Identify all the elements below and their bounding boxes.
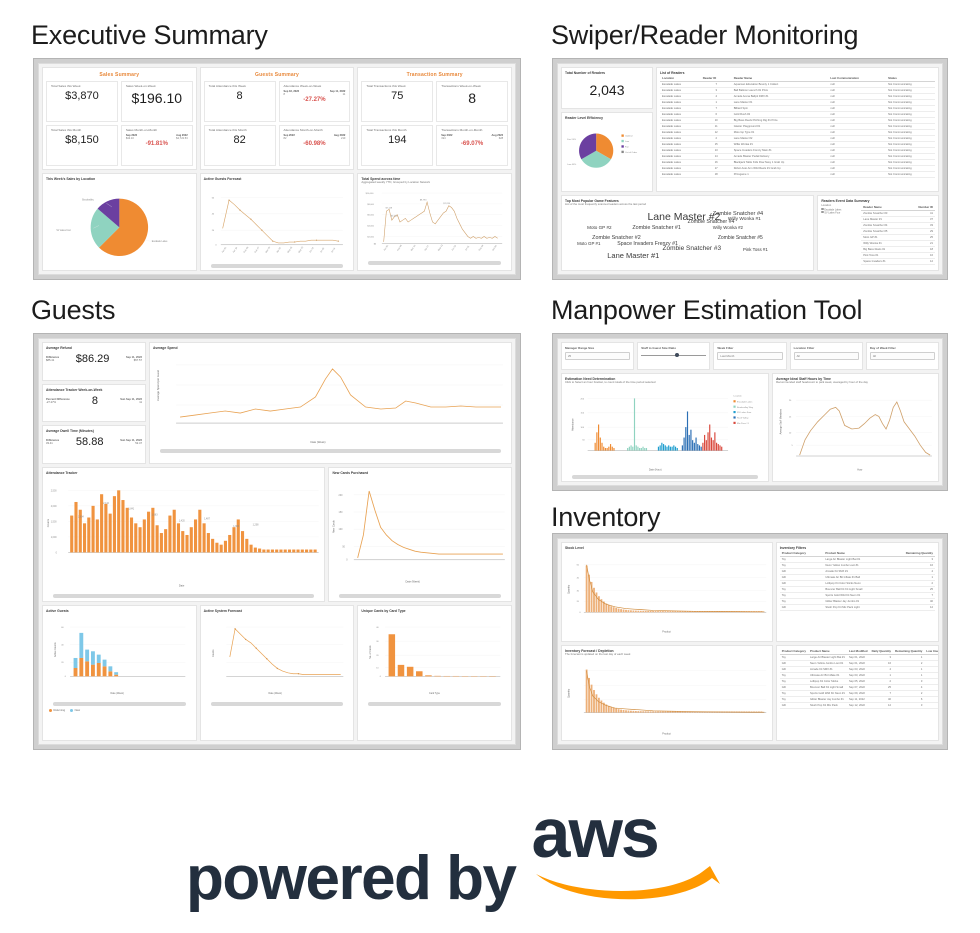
chart-top-game-features-wordcloud[interactable]: Top Most Popular Game Features List of t… <box>561 195 814 271</box>
bar[interactable] <box>645 711 647 712</box>
kpi-total-attendance-week[interactable]: Total Attendance this Week 8 <box>204 81 276 122</box>
bar[interactable] <box>416 671 423 676</box>
bar-returning[interactable] <box>91 664 95 676</box>
bar-new[interactable] <box>74 658 78 668</box>
bar[interactable] <box>168 515 171 552</box>
bar[interactable] <box>673 445 674 450</box>
bar-returning[interactable] <box>114 674 118 676</box>
bar[interactable] <box>625 609 627 611</box>
kpi-total-sales-week[interactable]: Total Sales this Week $3,870 <box>46 81 118 122</box>
bar[interactable] <box>713 440 714 450</box>
manpower-filter-bar[interactable]: Manager Range Size 25 Staff to Guest Siz… <box>561 342 939 370</box>
svg-text:0: 0 <box>380 676 382 678</box>
bar[interactable] <box>668 445 669 450</box>
bar[interactable] <box>628 610 630 612</box>
bar[interactable] <box>615 608 617 612</box>
ratio-slider[interactable] <box>641 355 706 356</box>
bar[interactable] <box>605 448 606 451</box>
bar[interactable] <box>634 398 635 450</box>
svg-text:Jul 24: Jul 24 <box>331 247 336 254</box>
bar[interactable] <box>92 505 95 552</box>
bar[interactable] <box>687 411 688 450</box>
bar[interactable] <box>198 509 201 552</box>
chart-total-spend[interactable]: Total Spend across time Aggregated weekl… <box>357 173 512 271</box>
bar[interactable] <box>669 711 671 712</box>
bar[interactable] <box>593 587 595 611</box>
bar[interactable] <box>674 711 676 712</box>
kpi-attendance-month-on-month[interactable]: Attendance Month-on-Month Sep 202282 Aug… <box>279 125 351 166</box>
kpi-attendance-tracker-wow[interactable]: Attendance Tracker Week-on-Week Percent … <box>42 384 146 423</box>
bar[interactable] <box>143 519 146 552</box>
bar[interactable] <box>632 711 634 713</box>
bar[interactable] <box>245 538 248 552</box>
bar[interactable] <box>620 710 622 713</box>
bar[interactable] <box>660 445 661 450</box>
bar[interactable] <box>644 448 645 451</box>
bar[interactable] <box>121 500 124 552</box>
bar[interactable] <box>232 527 235 552</box>
bar[interactable] <box>652 711 654 712</box>
bar[interactable] <box>126 507 129 552</box>
bar[interactable] <box>598 596 600 612</box>
slider-knob[interactable] <box>675 353 679 357</box>
bar[interactable] <box>279 549 282 552</box>
kpi-average-dwell-time[interactable]: Average Dwell Time (Minutes) Difference … <box>42 425 146 464</box>
chart-unique-cards-by-type[interactable]: Unique Cards by Card Type 40 30 20 10 0 … <box>357 605 512 741</box>
bar[interactable] <box>677 448 678 451</box>
bar[interactable] <box>207 533 210 552</box>
svg-text:Feb 27: Feb 27 <box>254 246 260 253</box>
chart-average-spend[interactable]: Average Spend Average Spend per Guest Da… <box>149 342 512 464</box>
bar[interactable] <box>296 549 299 552</box>
bar[interactable] <box>625 710 627 712</box>
chart-new-cards-purchased[interactable]: New Cards Purchased 200 150 100 50 0 New… <box>328 467 512 602</box>
bar[interactable] <box>657 611 659 612</box>
filter-location[interactable]: Location Filter All <box>790 342 863 370</box>
bar[interactable] <box>636 445 637 450</box>
bar[interactable] <box>675 447 676 451</box>
bar[interactable] <box>309 549 312 552</box>
bar-returning[interactable] <box>74 668 78 676</box>
bar[interactable] <box>629 447 630 451</box>
svg-text:Jun 12: Jun 12 <box>309 246 315 253</box>
bar[interactable] <box>650 611 652 612</box>
dashboard-manpower[interactable]: Manager Range Size 25 Staff to Guest Siz… <box>552 333 948 491</box>
bar[interactable] <box>640 711 642 712</box>
bar[interactable] <box>661 443 662 451</box>
bar[interactable] <box>185 535 188 552</box>
bar[interactable] <box>607 448 608 451</box>
bar[interactable] <box>600 700 602 712</box>
bar[interactable] <box>74 502 77 552</box>
bar[interactable] <box>600 438 601 451</box>
table-row[interactable]: GiftSlush Pop Kit Mix PackSep 12, 202212… <box>780 703 939 709</box>
bar[interactable] <box>674 611 676 612</box>
wordcloud-term[interactable]: Zombie Snatcher #1 <box>632 226 681 231</box>
table-inventory-detail[interactable]: Product Category Product Name Last Modif… <box>776 645 939 741</box>
bar[interactable] <box>608 605 610 612</box>
kpi-value: 8 <box>92 395 98 407</box>
panel-title: Inventory Filters <box>777 543 938 550</box>
bar[interactable] <box>130 517 133 552</box>
bar[interactable] <box>672 447 673 451</box>
bar[interactable] <box>685 427 686 450</box>
kpi-average-refund[interactable]: Average Refund Difference $85.41 $86.29 … <box>42 342 146 381</box>
bar[interactable] <box>603 447 604 451</box>
dashboard-swiper-reader[interactable]: Total Number of Readers 2,043 Reader Lev… <box>552 58 948 280</box>
kpi-transactions-week-on-week[interactable]: Transactions Week-on-Week 8 <box>436 81 508 122</box>
bar[interactable] <box>642 610 644 611</box>
bar[interactable] <box>662 711 664 712</box>
wordcloud-term[interactable]: Willy Wonka #1 <box>728 218 761 223</box>
bar[interactable] <box>83 523 86 552</box>
svg-text:1,500: 1,500 <box>51 521 58 523</box>
bar-returning[interactable] <box>79 658 83 676</box>
kpi-value: 8 <box>441 91 503 105</box>
bar[interactable] <box>147 511 150 552</box>
kpi-total-transactions-month[interactable]: Total Transactions this Month 194 <box>361 125 433 166</box>
svg-text:40: 40 <box>377 627 380 629</box>
bar[interactable] <box>667 711 669 712</box>
bar[interactable] <box>707 432 708 450</box>
kpi-label: Attendance Week-on-Week <box>284 85 346 89</box>
bar[interactable] <box>702 443 703 451</box>
chart-active-guests-forecast[interactable]: Active Guests Forecast 60 40 20 0 <box>200 173 355 271</box>
bar[interactable] <box>586 565 588 612</box>
bar[interactable] <box>435 675 442 676</box>
wordcloud-term[interactable]: Space Invaders Frenzy #1 <box>617 242 678 247</box>
wordcloud-term[interactable]: Willy Wonka #2 <box>713 226 743 230</box>
bar[interactable] <box>657 711 659 712</box>
dashboard-guests[interactable]: Average Refund Difference $85.41 $86.29 … <box>33 333 521 750</box>
bar-returning[interactable] <box>97 663 101 676</box>
bar[interactable] <box>596 694 598 712</box>
bar[interactable] <box>314 549 317 552</box>
kpi-total-readers[interactable]: Total Number of Readers 2,043 <box>561 67 653 109</box>
chart-scrollbar[interactable] <box>339 594 501 598</box>
bar[interactable] <box>672 611 674 612</box>
bar[interactable] <box>601 443 602 451</box>
bar[interactable] <box>660 611 662 612</box>
dashboard-inventory[interactable]: Stock Level 50 40 30 20 0 Quantity <box>552 533 948 750</box>
bar[interactable] <box>650 711 652 712</box>
filter-manager-range-size[interactable]: Manager Range Size 25 <box>561 342 634 370</box>
bar[interactable] <box>591 685 593 713</box>
bar[interactable] <box>258 548 261 552</box>
table-row[interactable]: Space Invaders #112 <box>861 258 935 264</box>
wordcloud-term[interactable]: Pink Toss #1 <box>743 248 768 252</box>
bar[interactable] <box>173 509 176 552</box>
bar-new[interactable] <box>103 659 107 666</box>
bar[interactable] <box>301 549 304 552</box>
bar[interactable] <box>228 535 231 552</box>
bar[interactable] <box>608 706 610 713</box>
panel-inventory-filters[interactable]: Inventory Filters Product Category Produ… <box>776 542 939 642</box>
bar[interactable] <box>220 544 223 552</box>
bar[interactable] <box>593 690 595 713</box>
bar[interactable] <box>664 711 666 712</box>
bar[interactable] <box>664 611 666 612</box>
bar[interactable] <box>215 542 218 552</box>
bar[interactable] <box>635 610 637 612</box>
bar[interactable] <box>655 711 657 712</box>
bar[interactable] <box>646 448 647 451</box>
chart-inventory-forecast[interactable]: Inventory Forecast / Depletion The forec… <box>561 645 773 741</box>
bar[interactable] <box>618 608 620 612</box>
bar[interactable] <box>254 547 257 552</box>
table-row[interactable]: GiftSlush Pop Kit Mix Pack Light12 <box>780 604 935 610</box>
bar[interactable] <box>670 447 671 451</box>
filter-week[interactable]: Week Filter Last Month <box>713 342 786 370</box>
chart-active-system-forecast[interactable]: Active System Forecast Counts <box>200 605 355 741</box>
svg-text:Feb 06: Feb 06 <box>398 245 404 252</box>
bar[interactable] <box>203 523 206 552</box>
chart-title: Inventory Forecast / Depletion <box>562 646 772 653</box>
bar[interactable] <box>704 435 705 451</box>
bar[interactable] <box>598 425 599 451</box>
bar[interactable] <box>642 447 643 451</box>
bar-new[interactable] <box>114 672 118 675</box>
chart-scrollbar[interactable] <box>53 702 186 706</box>
bar[interactable] <box>658 447 659 451</box>
bar[interactable] <box>630 445 631 450</box>
bar[interactable] <box>608 447 609 451</box>
bar[interactable] <box>224 540 227 552</box>
dashboard-executive-summary[interactable]: Sales Summary Total Sales this Week $3,8… <box>33 58 521 280</box>
bar[interactable] <box>662 611 664 612</box>
bar[interactable] <box>610 707 612 713</box>
bar[interactable] <box>721 447 722 451</box>
chart-active-guests[interactable]: Active Guests 60 40 20 0 Active Counts D… <box>42 605 197 741</box>
kpi-sales-month-on-month[interactable]: Sales Month-on-Month Sep 2022$42.10 Aug … <box>121 125 193 166</box>
chart-scrollbar[interactable] <box>211 264 344 268</box>
filter-option-1[interactable]: SV Lakes Four <box>821 211 858 214</box>
bar[interactable] <box>211 538 214 552</box>
bar[interactable] <box>262 549 265 552</box>
bar[interactable] <box>714 432 715 450</box>
bar[interactable] <box>699 445 700 450</box>
bar[interactable] <box>665 445 666 450</box>
chart-estimation-need[interactable]: Estimation Need Determination Click to S… <box>561 373 769 482</box>
table-row[interactable]: Escalade Lakes18Prizegame 1nullNot Commu… <box>660 171 935 177</box>
chart-stock-level[interactable]: Stock Level 50 40 30 20 0 Quantity <box>561 542 773 642</box>
chart-scrollbar[interactable] <box>53 594 314 598</box>
bar[interactable] <box>610 606 612 612</box>
bar[interactable] <box>156 525 159 552</box>
chart-scrollbar[interactable] <box>160 449 501 453</box>
bar[interactable] <box>109 513 112 552</box>
bar[interactable] <box>87 517 90 552</box>
bar[interactable] <box>596 432 597 450</box>
bar[interactable] <box>695 438 696 451</box>
bar[interactable] <box>682 445 683 450</box>
bar[interactable] <box>709 425 710 451</box>
bar[interactable] <box>645 611 647 612</box>
bar-new[interactable] <box>79 632 83 657</box>
bar[interactable] <box>595 443 596 451</box>
bar[interactable] <box>623 609 625 612</box>
bar[interactable] <box>652 611 654 612</box>
chart-title: Reader Level Efficiency <box>562 113 652 120</box>
bar[interactable] <box>628 710 630 712</box>
bar[interactable] <box>641 448 642 451</box>
bar[interactable] <box>605 603 607 612</box>
bar[interactable] <box>630 711 632 713</box>
chart-scrollbar[interactable] <box>368 261 501 265</box>
bar[interactable] <box>134 523 137 552</box>
bar[interactable] <box>160 533 163 552</box>
table-reader-event-summary[interactable]: Readers Event Data Summary Location Esca… <box>817 195 939 271</box>
bar[interactable] <box>666 447 667 451</box>
bar[interactable] <box>716 443 717 451</box>
table-list-of-readers[interactable]: List of Readers Location Reader ID Reade… <box>656 67 939 192</box>
bar[interactable] <box>684 438 685 451</box>
bar[interactable] <box>718 444 719 451</box>
bar[interactable] <box>623 710 625 713</box>
bar[interactable] <box>632 447 633 451</box>
kpi-date-value: 11 <box>120 401 142 404</box>
bar[interactable] <box>663 444 664 451</box>
svg-text:Average Spend per Guest: Average Spend per Guest <box>156 369 160 400</box>
kpi-label: Transactions Month-on-Month <box>441 129 503 133</box>
bar[interactable] <box>667 611 669 612</box>
bar[interactable] <box>138 527 141 552</box>
bar[interactable] <box>692 440 693 450</box>
chart-scrollbar[interactable] <box>368 702 501 706</box>
bar[interactable] <box>104 503 107 552</box>
col-daily-qty: Daily Quantity <box>870 648 893 655</box>
bar[interactable] <box>284 549 287 552</box>
bar[interactable] <box>615 709 617 713</box>
bar-returning[interactable] <box>103 666 107 676</box>
bar-new[interactable] <box>91 651 95 664</box>
bar[interactable] <box>612 447 613 451</box>
x-axis-label: Hour <box>857 468 862 471</box>
bar[interactable] <box>407 666 414 676</box>
bar-returning[interactable] <box>108 671 112 676</box>
bar[interactable] <box>711 438 712 451</box>
bar[interactable] <box>647 611 649 612</box>
bar[interactable] <box>701 447 702 451</box>
bar[interactable] <box>689 435 690 451</box>
chart-title: Average Ideal Staff Hours by Time <box>773 374 938 381</box>
chart-attendance-tracker[interactable]: Attendance Tracker 2,500 2,000 1,500 1,0… <box>42 467 325 602</box>
bar[interactable] <box>267 549 270 552</box>
bar[interactable] <box>613 448 614 451</box>
filter-day-of-week[interactable]: Day of Week Filter All <box>866 342 939 370</box>
kpi-value: $8,150 <box>51 135 113 146</box>
bar[interactable] <box>719 445 720 450</box>
bar[interactable] <box>694 443 695 451</box>
kpi-total-attendance-month[interactable]: Total Attendance this Month 82 <box>204 125 276 166</box>
kpi-transactions-month-on-month[interactable]: Transactions Month-on-Month Sep 2022194 … <box>436 125 508 166</box>
kpi-total-transactions-week[interactable]: Total Transactions this Week 75 <box>361 81 433 122</box>
filter-staff-guest-ratio[interactable]: Staff to Guest Size Ratio <box>637 342 710 370</box>
bar[interactable] <box>250 544 253 552</box>
wordcloud-term[interactable]: Moto GP #1 <box>577 242 600 246</box>
bar-new[interactable] <box>108 666 112 671</box>
svg-text:1,208: 1,208 <box>253 524 260 526</box>
bar[interactable] <box>113 496 116 552</box>
wordcloud-term[interactable]: Zombie Snatcher #4 <box>713 212 763 218</box>
bar[interactable] <box>706 440 707 450</box>
bar[interactable] <box>426 675 433 676</box>
bar[interactable] <box>305 549 308 552</box>
bar[interactable] <box>117 490 120 552</box>
bar[interactable] <box>237 519 240 552</box>
chart-avg-staff-hours[interactable]: Average Ideal Staff Hours by Time Recomm… <box>772 373 939 482</box>
bar[interactable] <box>398 664 405 675</box>
bar[interactable] <box>288 549 291 552</box>
bar[interactable] <box>627 448 628 451</box>
svg-text:0: 0 <box>215 245 217 247</box>
wordcloud-term[interactable]: Moto GP #2 <box>587 226 611 231</box>
bar[interactable] <box>639 448 640 451</box>
wordcloud-term[interactable]: Lane Master #1 <box>607 252 659 260</box>
chart-scrollbar[interactable] <box>572 475 758 479</box>
bar[interactable] <box>194 519 197 552</box>
bar[interactable] <box>610 444 611 451</box>
bar[interactable] <box>637 610 639 612</box>
bar[interactable] <box>672 711 674 712</box>
bar[interactable] <box>177 523 180 552</box>
bar[interactable] <box>669 611 671 612</box>
kpi-sales-week-on-week[interactable]: Sales Week-on-Week $196.10 <box>121 81 193 122</box>
bar[interactable] <box>642 711 644 712</box>
bar[interactable] <box>660 711 662 712</box>
kpi-attendance-week-on-week[interactable]: Attendance Week-on-Week Sep 18, 20228 Se… <box>279 81 351 122</box>
bar[interactable] <box>292 549 295 552</box>
bar[interactable] <box>618 709 620 712</box>
bar[interactable] <box>70 515 73 552</box>
bar[interactable] <box>389 634 396 676</box>
bar[interactable] <box>635 711 637 713</box>
chart-sales-by-location[interactable]: This Week's Sales by Location Escalade L… <box>42 173 197 271</box>
bar[interactable] <box>164 529 167 552</box>
chart-title: Total Spend across time <box>358 174 511 181</box>
bar[interactable] <box>697 444 698 451</box>
bar[interactable] <box>637 447 638 451</box>
bar[interactable] <box>630 610 632 612</box>
bar-new[interactable] <box>97 654 101 662</box>
wordcloud-term[interactable]: Zombie Snatcher #5 <box>718 236 763 241</box>
bar[interactable] <box>690 430 691 451</box>
kpi-total-sales-month[interactable]: Total Sales this Month $8,150 <box>46 125 118 166</box>
bar[interactable] <box>271 549 274 552</box>
bar[interactable] <box>620 609 622 612</box>
bar[interactable] <box>598 698 600 713</box>
bar[interactable] <box>181 531 184 552</box>
col-location: Location <box>660 75 701 82</box>
bar[interactable] <box>190 527 193 552</box>
bar[interactable] <box>647 711 649 712</box>
bar[interactable] <box>640 610 642 611</box>
bar[interactable] <box>637 711 639 712</box>
bar[interactable] <box>632 610 634 612</box>
bar[interactable] <box>96 519 99 552</box>
bar[interactable] <box>241 531 244 552</box>
bar-returning[interactable] <box>85 661 89 676</box>
bar[interactable] <box>613 607 615 612</box>
bar[interactable] <box>613 708 615 713</box>
bar-new[interactable] <box>85 649 89 661</box>
bar[interactable] <box>655 611 657 612</box>
kpi-value: $86.29 <box>76 353 110 365</box>
bar[interactable] <box>275 549 278 552</box>
chart-reader-efficiency[interactable]: Reader Level Efficiency Optimal <box>561 112 653 192</box>
chart-scrollbar[interactable] <box>211 702 344 706</box>
chart-title: Active System Forecast <box>201 606 354 613</box>
